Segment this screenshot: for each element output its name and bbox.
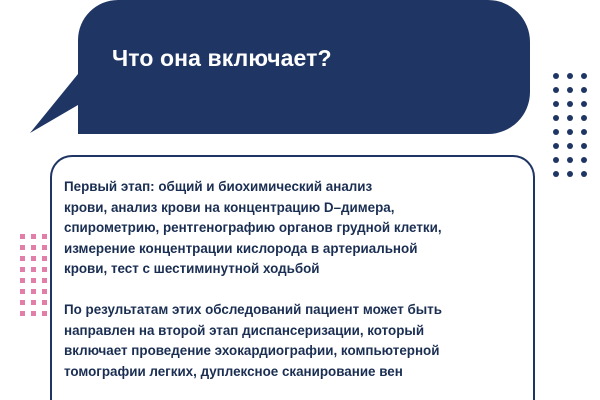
dot — [553, 73, 559, 79]
dot — [581, 115, 587, 121]
dot — [567, 73, 573, 79]
dot — [581, 143, 587, 149]
paragraph-second-stage: По результатам этих обследований пациент… — [64, 300, 519, 382]
square-dot — [20, 267, 25, 272]
dot — [581, 101, 587, 107]
square-dot — [31, 289, 36, 294]
dot — [553, 87, 559, 93]
speech-bubble: Что она включает? — [30, 0, 530, 136]
dot — [581, 171, 587, 177]
dot — [553, 129, 559, 135]
square-dot — [20, 289, 25, 294]
dot — [581, 87, 587, 93]
square-dot — [42, 278, 47, 283]
square-dot — [20, 278, 25, 283]
square-dot — [42, 256, 47, 261]
square-dot — [31, 234, 36, 239]
dot — [581, 73, 587, 79]
square-dot — [31, 267, 36, 272]
decor-dots-left — [17, 231, 50, 319]
dot — [553, 143, 559, 149]
square-dot — [42, 300, 47, 305]
page-title: Что она включает? — [112, 44, 532, 72]
square-dot — [42, 289, 47, 294]
square-dot — [42, 311, 47, 316]
paragraph-first-stage: Первый этап: общий и биохимический анали… — [64, 177, 519, 280]
dot — [567, 101, 573, 107]
square-dot — [20, 311, 25, 316]
content-card: Первый этап: общий и биохимический анали… — [50, 155, 535, 400]
square-dot — [31, 256, 36, 261]
square-dot — [42, 245, 47, 250]
dot — [567, 171, 573, 177]
square-dot — [31, 311, 36, 316]
dot — [567, 115, 573, 121]
square-dot — [42, 234, 47, 239]
square-dot — [20, 234, 25, 239]
dot — [553, 101, 559, 107]
dot — [553, 157, 559, 163]
square-dot — [20, 300, 25, 305]
dot — [581, 129, 587, 135]
dot — [581, 157, 587, 163]
dot — [553, 171, 559, 177]
square-dot — [31, 300, 36, 305]
square-dot — [20, 245, 25, 250]
dot — [567, 143, 573, 149]
dot — [567, 129, 573, 135]
dot — [567, 157, 573, 163]
square-dot — [31, 245, 36, 250]
infographic-slide: Что она включает? Первый этап: общий и б… — [0, 0, 600, 400]
square-dot — [31, 278, 36, 283]
square-dot — [20, 256, 25, 261]
decor-dots-right — [549, 69, 591, 181]
square-dot — [42, 267, 47, 272]
dot — [553, 115, 559, 121]
dot — [567, 87, 573, 93]
content-card-body: Первый этап: общий и биохимический анали… — [64, 177, 519, 382]
